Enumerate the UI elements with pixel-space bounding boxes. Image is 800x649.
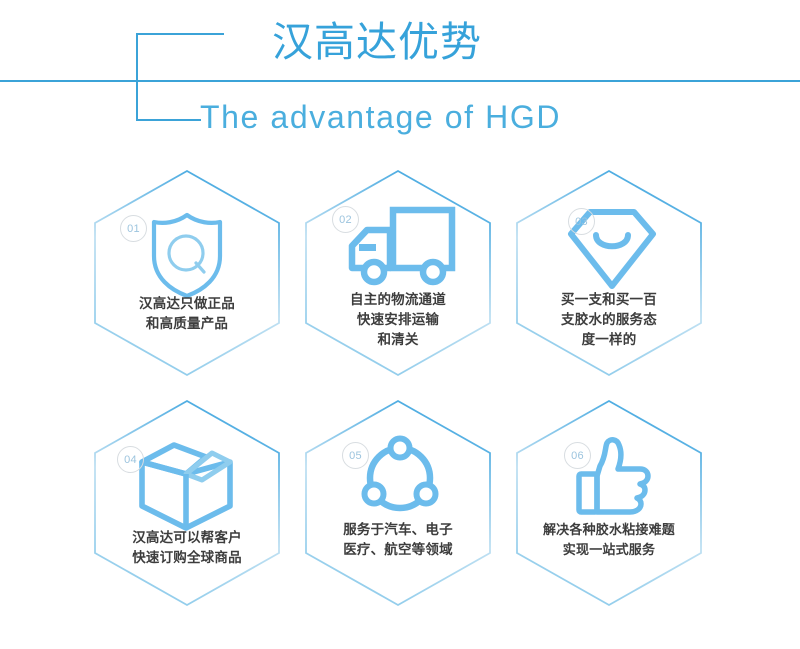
advantage-line: 快速安排运输 — [303, 310, 493, 330]
badge-number-06: 06 — [564, 442, 591, 469]
package-box-icon — [134, 440, 238, 534]
badge-number-01: 01 — [120, 215, 147, 242]
header-bracket-spine — [136, 33, 138, 121]
page-header: 汉高达优势 The advantage of HGD — [0, 0, 800, 165]
header-divider-line — [0, 80, 800, 82]
badge-number-03: 03 — [568, 208, 595, 235]
page-title: 汉高达优势 — [272, 16, 482, 68]
advantage-card-02[interactable]: 02 自主的物流通道 快速安排运输 和清关 — [303, 168, 493, 378]
advantages-grid: 01 汉高达只做正品 和高质量产品 — [0, 168, 800, 608]
advantage-text-04: 汉高达可以帮客户 快速订购全球商品 — [92, 528, 282, 568]
advantage-line: 服务于汽车、电子 — [303, 520, 493, 540]
shield-quality-icon — [143, 208, 231, 300]
advantage-line: 汉高达只做正品 — [92, 294, 282, 314]
advantage-line: 买一支和买一百 — [514, 290, 704, 310]
advantage-text-03: 买一支和买一百 支胶水的服务态 度一样的 — [514, 290, 704, 350]
advantage-card-04[interactable]: 04 汉高达可以帮客户 快速订购全球商品 — [92, 398, 282, 608]
advantage-text-01: 汉高达只做正品 和高质量产品 — [92, 294, 282, 334]
advantage-card-06[interactable]: 06 解决各种胶水粘接难题 实现一站式服务 — [514, 398, 704, 608]
advantage-text-02: 自主的物流通道 快速安排运输 和清关 — [303, 290, 493, 350]
delivery-truck-icon — [345, 206, 457, 290]
advantage-text-05: 服务于汽车、电子 医疗、航空等领域 — [303, 520, 493, 560]
header-bracket-arm-bottom — [136, 119, 201, 121]
advantage-line: 解决各种胶水粘接难题 — [498, 520, 720, 540]
header-bracket-arm-top — [136, 33, 224, 35]
advantage-line: 和清关 — [303, 330, 493, 350]
advantage-card-03[interactable]: 03 买一支和买一百 支胶水的服务态 度一样的 — [514, 168, 704, 378]
advantage-infographic-page: 汉高达优势 The advantage of HGD 01 — [0, 0, 800, 649]
advantage-line: 自主的物流通道 — [303, 290, 493, 310]
page-subtitle: The advantage of HGD — [200, 96, 561, 138]
advantage-line: 支胶水的服务态 — [514, 310, 704, 330]
network-nodes-icon — [358, 434, 442, 518]
advantage-card-05[interactable]: 05 服务于汽车、电子 医疗、航空等领域 — [303, 398, 493, 608]
advantage-line: 医疗、航空等领域 — [303, 540, 493, 560]
advantage-line: 快速订购全球商品 — [92, 548, 282, 568]
advantage-line: 实现一站式服务 — [498, 540, 720, 560]
advantage-line: 汉高达可以帮客户 — [92, 528, 282, 548]
advantage-card-01[interactable]: 01 汉高达只做正品 和高质量产品 — [92, 168, 282, 378]
advantage-line: 度一样的 — [514, 330, 704, 350]
advantage-line: 和高质量产品 — [92, 314, 282, 334]
badge-number-02: 02 — [332, 206, 359, 233]
badge-number-04: 04 — [117, 446, 144, 473]
badge-number-05: 05 — [342, 442, 369, 469]
advantage-text-06: 解决各种胶水粘接难题 实现一站式服务 — [498, 520, 720, 560]
